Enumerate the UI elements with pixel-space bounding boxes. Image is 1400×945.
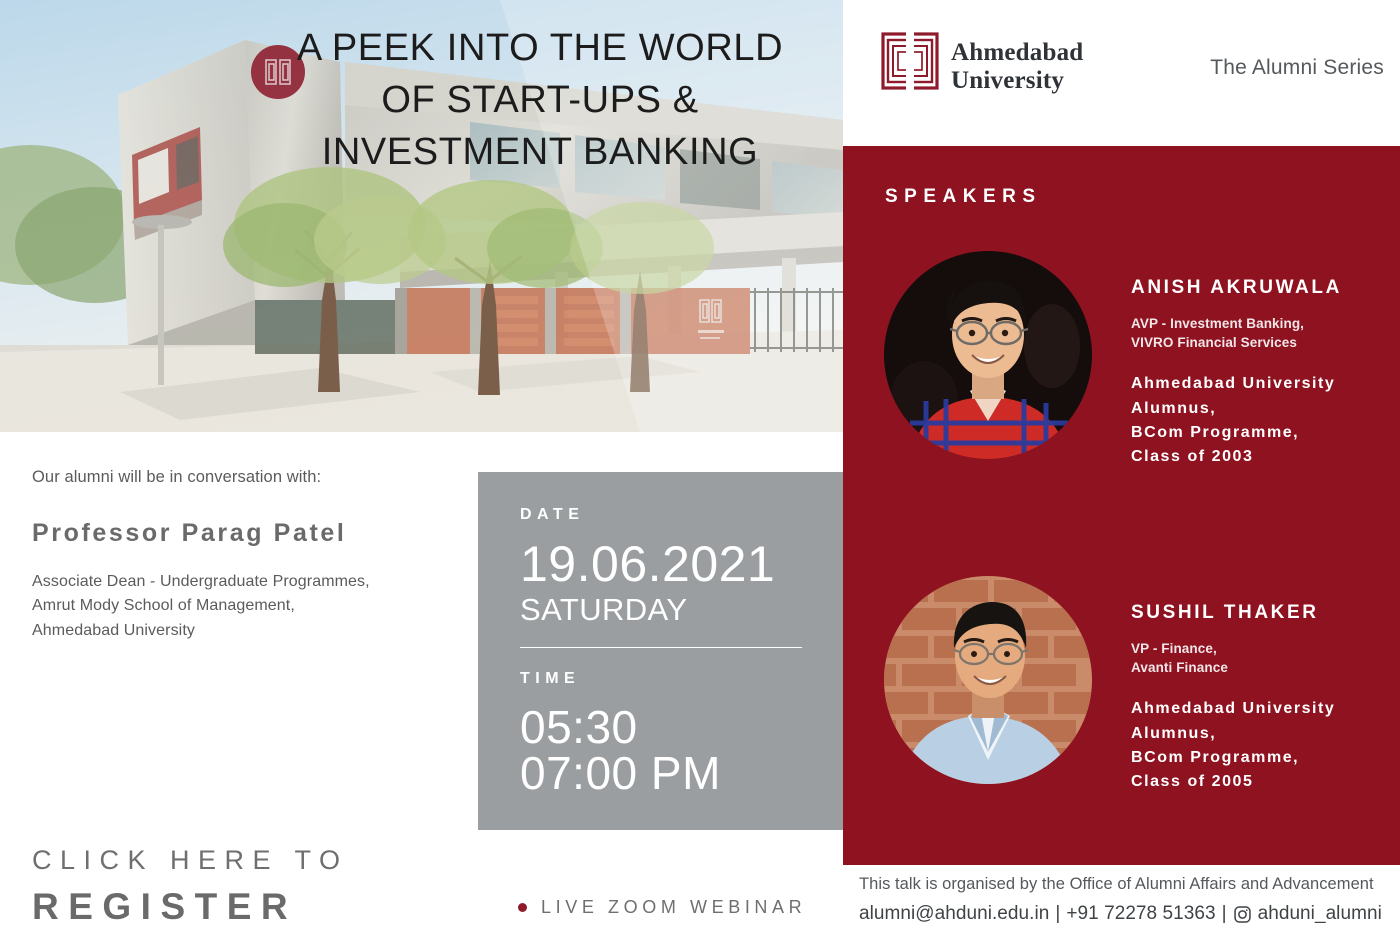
brand-name-line-2: University bbox=[951, 67, 1083, 95]
speaker-role-line-2: Avanti Finance bbox=[1131, 658, 1393, 677]
speaker-role-line-1: AVP - Investment Banking, bbox=[1131, 314, 1393, 333]
speaker-alumni-line-2: Alumnus, bbox=[1131, 397, 1393, 421]
speaker-alumni-line-3: BCom Programme, bbox=[1131, 421, 1393, 445]
time-value: 05:30 07:00 PM bbox=[520, 704, 803, 796]
separator-1: | bbox=[1055, 903, 1060, 925]
moderator-role-line-2: Amrut Mody School of Management, bbox=[32, 594, 462, 618]
speakers-panel: SPEAKERS bbox=[843, 146, 1400, 865]
date-weekday: SATURDAY bbox=[520, 591, 803, 630]
instagram-handle[interactable]: ahduni_alumni bbox=[1258, 903, 1382, 925]
register-line-1: CLICK HERE TO bbox=[32, 845, 349, 876]
moderator-block: Our alumni will be in conversation with:… bbox=[32, 468, 462, 643]
moderator-lead: Our alumni will be in conversation with: bbox=[32, 468, 462, 487]
footer: This talk is organised by the Office of … bbox=[843, 875, 1400, 925]
speaker-role: AVP - Investment Banking, VIVRO Financia… bbox=[1131, 314, 1393, 352]
card-divider bbox=[520, 647, 802, 648]
ahmedabad-university-logo-icon bbox=[881, 32, 939, 90]
time-label: TIME bbox=[520, 670, 803, 688]
contact-line: alumni@ahduni.edu.in | +91 72278 51363 |… bbox=[859, 903, 1400, 925]
webinar-label: LIVE ZOOM WEBINAR bbox=[541, 897, 806, 918]
moderator-role-line-1: Associate Dean - Undergraduate Programme… bbox=[32, 570, 462, 594]
date-label: DATE bbox=[520, 506, 803, 524]
separator-2: | bbox=[1222, 903, 1227, 925]
speaker-alumni-line-1: Ahmedabad University bbox=[1131, 697, 1393, 721]
speaker-name: ANISH AKRUWALA bbox=[1131, 277, 1393, 299]
right-panel: Ahmedabad University The Alumni Series S… bbox=[843, 0, 1400, 945]
brand-name-line-1: Ahmedabad bbox=[951, 39, 1083, 67]
instagram-icon[interactable] bbox=[1233, 905, 1252, 924]
title-line-1: A PEEK INTO THE WORLD bbox=[245, 22, 835, 74]
speaker-alumni-line-2: Alumnus, bbox=[1131, 722, 1393, 746]
speaker-alumni-line-4: Class of 2003 bbox=[1131, 445, 1393, 469]
brand-bar: Ahmedabad University The Alumni Series bbox=[843, 0, 1400, 146]
speaker-alumni: Ahmedabad University Alumnus, BCom Progr… bbox=[1131, 697, 1393, 794]
speaker-alumni: Ahmedabad University Alumnus, BCom Progr… bbox=[1131, 372, 1393, 469]
event-poster: A PEEK INTO THE WORLD OF START-UPS & INV… bbox=[0, 0, 1400, 945]
series-label: The Alumni Series bbox=[1210, 56, 1384, 80]
brand-name: Ahmedabad University bbox=[951, 39, 1083, 96]
webinar-badge: LIVE ZOOM WEBINAR bbox=[518, 897, 806, 918]
speaker-photo-anish bbox=[884, 251, 1092, 459]
speaker-role: VP - Finance, Avanti Finance bbox=[1131, 639, 1393, 677]
speaker-role-line-1: VP - Finance, bbox=[1131, 639, 1393, 658]
register-line-2: REGISTER bbox=[32, 886, 349, 928]
speaker-info: SUSHIL THAKER VP - Finance, Avanti Finan… bbox=[1131, 602, 1393, 795]
email-link[interactable]: alumni@ahduni.edu.in bbox=[859, 903, 1049, 925]
speaker-info: ANISH AKRUWALA AVP - Investment Banking,… bbox=[1131, 277, 1393, 470]
moderator-role: Associate Dean - Undergraduate Programme… bbox=[32, 570, 462, 643]
title-line-2: OF START-UPS & bbox=[245, 74, 835, 126]
speaker-alumni-line-3: BCom Programme, bbox=[1131, 746, 1393, 770]
register-button[interactable]: CLICK HERE TO REGISTER bbox=[32, 845, 349, 928]
date-value: 19.06.2021 bbox=[520, 538, 803, 591]
time-end: 07:00 PM bbox=[520, 750, 803, 796]
speaker-photo-sushil bbox=[884, 576, 1092, 784]
speaker-role-line-2: VIVRO Financial Services bbox=[1131, 333, 1393, 352]
speaker-alumni-line-1: Ahmedabad University bbox=[1131, 372, 1393, 396]
speaker-name: SUSHIL THAKER bbox=[1131, 602, 1393, 624]
speaker-alumni-line-4: Class of 2005 bbox=[1131, 770, 1393, 794]
dot-icon bbox=[518, 903, 527, 912]
moderator-name: Professor Parag Patel bbox=[32, 519, 462, 548]
date-time-card: DATE 19.06.2021 SATURDAY TIME 05:30 07:0… bbox=[478, 472, 843, 830]
organiser-text: This talk is organised by the Office of … bbox=[859, 875, 1400, 894]
title-line-3: INVESTMENT BANKING bbox=[245, 126, 835, 178]
page-title: A PEEK INTO THE WORLD OF START-UPS & INV… bbox=[245, 22, 835, 178]
moderator-role-line-3: Ahmedabad University bbox=[32, 619, 462, 643]
speakers-heading: SPEAKERS bbox=[885, 186, 1042, 208]
phone-number[interactable]: +91 72278 51363 bbox=[1066, 903, 1215, 925]
time-start: 05:30 bbox=[520, 704, 803, 750]
